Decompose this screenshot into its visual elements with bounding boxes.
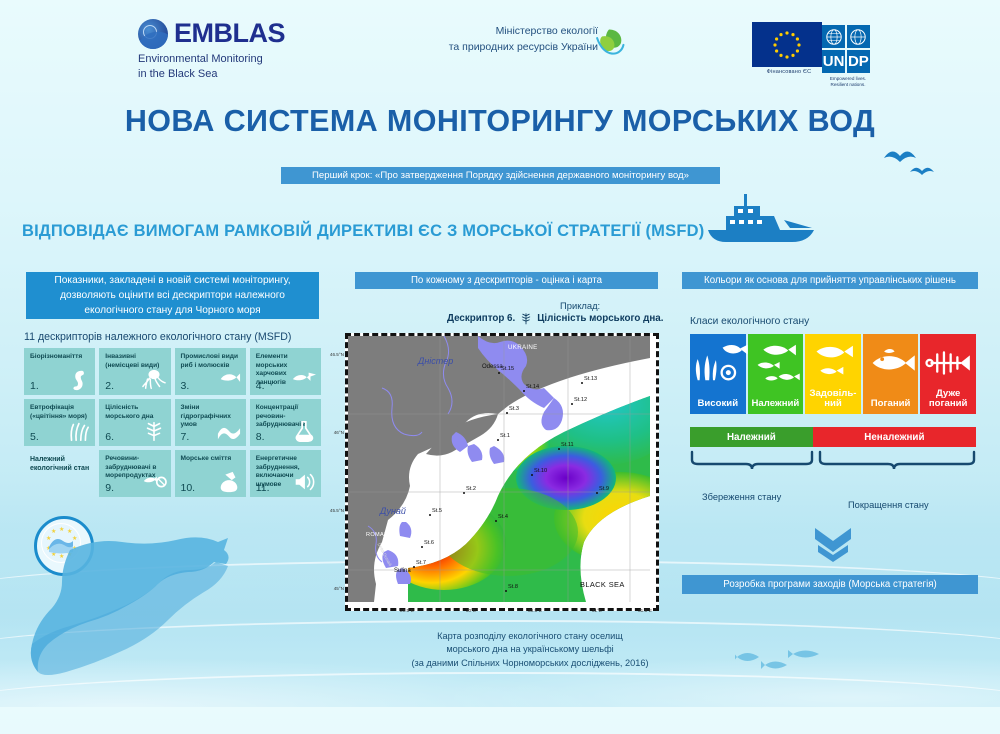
emblas-shell-wave-logo-icon — [138, 19, 168, 49]
map-frame: Дністер Дунай UKRAINE ROMANIA BLACK SEA … — [345, 333, 659, 611]
seagulls-icon — [880, 140, 940, 180]
descriptor-grid: Біорізноманіття1.Інвазивні (немісцеві ви… — [24, 348, 321, 497]
map-caption-line1: Карта розподілу екологічного стану осели… — [380, 630, 680, 643]
map-station-11: St.11 — [561, 442, 574, 448]
map-station-12: St.12 — [574, 397, 587, 403]
brace-left — [692, 452, 812, 469]
eco-class-label: Задовіль-ний — [805, 389, 861, 410]
eu-logo: Фінансовано ЄС — [752, 22, 826, 75]
descriptor-card-6: Цілісність морського дна6. — [99, 399, 170, 446]
eco-class-label: Дуже поганий — [920, 389, 976, 410]
wave-icon — [216, 419, 242, 443]
descriptor-card-4: Елементи морських харчових ланцюгів4. — [250, 348, 321, 395]
map-station-10: St.10 — [534, 468, 547, 474]
seabed-coral-icon — [141, 419, 167, 443]
descriptor-number: 3. — [181, 380, 190, 392]
program-banner: Розробка програми заходів (Морська страт… — [682, 575, 978, 594]
green-leaf-icon — [592, 26, 626, 62]
map-caption-line3: (за даними Спільних Чорноморських дослід… — [380, 657, 680, 670]
eco-class-3: Задовіль-ний — [805, 334, 861, 414]
descriptor-number: 1. — [30, 380, 39, 392]
map-label-dunai: Дунай — [380, 506, 406, 516]
classes-caption: Класи екологічного стану — [690, 316, 809, 327]
brace-label-improve: Покращення стану — [848, 500, 929, 510]
speaker-noise-icon — [291, 470, 317, 494]
food-chain-fish-icon — [291, 368, 317, 392]
map-caption: Карта розподілу екологічного стану осели… — [380, 630, 680, 670]
emblas-wordmark: EMBLAS — [174, 18, 285, 49]
undp-letters-dp: DP — [847, 50, 870, 73]
eco-class-label: Належний — [751, 399, 799, 410]
header: EMBLAS Environmental Monitoring in the B… — [0, 0, 1000, 98]
eu-funding-caption: Фінансовано ЄС — [752, 69, 826, 75]
map-lat-tick-1: 46.5°N — [322, 352, 344, 357]
descriptor6-title: Цілісність морського дна. — [537, 313, 663, 324]
eco-class-label: Поганий — [871, 399, 911, 410]
descriptor-number: 8. — [256, 431, 265, 443]
descriptor-card-1: Біорізноманіття1. — [24, 348, 95, 395]
map-caption-line2: морського дна на українському шельфі — [380, 643, 680, 656]
descriptor-card-11: Енергетичне забруднення, включаючи шумов… — [250, 450, 321, 497]
eco-class-1: Високий — [690, 334, 746, 414]
descriptor-number: 4. — [256, 380, 265, 392]
map-label-ukraine: UKRAINE — [508, 344, 538, 351]
status-label: Належний — [727, 432, 776, 443]
one-fish-icon — [863, 340, 924, 386]
map-label-black-sea: BLACK SEA — [580, 580, 625, 589]
brace-right — [820, 452, 974, 469]
trash-bag-icon — [216, 470, 242, 494]
undp-letters-un: UN — [822, 50, 845, 73]
research-vessel-icon — [700, 190, 825, 250]
map-lon-tick-5: 31.5°E — [632, 608, 658, 613]
page-title: НОВА СИСТЕМА МОНІТОРИНГУ МОРСЬКИХ ВОД — [0, 104, 1000, 139]
undp-globe-icon-mirror — [847, 25, 870, 48]
map-label-dnister: Дністер — [418, 356, 453, 366]
two-fish-icon — [805, 340, 866, 386]
descriptor6-heading: Дескриптор 6. Цілісність морського дна. — [447, 311, 663, 326]
seabed-coral-icon — [519, 311, 533, 326]
flask-icon — [291, 419, 317, 443]
map-lat-tick-2: 46°N — [322, 430, 344, 435]
map-town-odessa: Odessa — [482, 364, 503, 370]
map-station-14: St.14 — [526, 384, 539, 390]
descriptor-label: Належний екологічний стан — [30, 455, 90, 473]
fish-school-icon — [735, 645, 830, 675]
map-lon-tick-3: 30.5°E — [522, 608, 548, 613]
descriptor-number: 10. — [181, 482, 196, 494]
map-lat-tick-4: 45°N — [322, 586, 344, 591]
descriptor-card-5: Евтрофікація («цвітіння» моря)5. — [24, 399, 95, 446]
descriptor-number: 7. — [181, 431, 190, 443]
descriptor-number: 5. — [30, 431, 39, 443]
map-lon-tick-4: 31°E — [584, 608, 610, 613]
squid-icon — [141, 368, 167, 392]
descriptor6-prefix: Дескриптор 6. — [447, 313, 515, 324]
indicators-banner: Показники, закладені в новій системі мон… — [26, 272, 319, 319]
three-fish-icon — [748, 340, 809, 386]
eco-class-2: Належний — [748, 334, 804, 414]
map-station-5: St.5 — [432, 508, 442, 514]
eu-flag-icon — [752, 22, 822, 67]
map-station-7: St.7 — [416, 560, 426, 566]
seahorse-icon — [65, 368, 91, 392]
descriptor-label: Біорізноманіття — [30, 353, 90, 362]
descriptor-map-banner: По кожному з дескрипторів - оцінка і кар… — [355, 272, 658, 289]
fish-skeleton-icon — [920, 340, 981, 386]
descriptor-number: 2. — [105, 380, 114, 392]
undp-globe-icon — [822, 25, 845, 48]
descriptor-number: 11. — [256, 482, 270, 494]
map-label-romania: ROMANIA — [366, 532, 394, 538]
undp-logo: UN DP Empowered lives. Resilient nations… — [822, 25, 874, 88]
descriptor-label: Морське сміття — [181, 455, 241, 464]
map-station-13: St.13 — [584, 376, 597, 382]
map-station-4: St.4 — [498, 514, 508, 520]
msfd-compliance-heading: ВІДПОВІДАЄ ВИМОГАМ РАМКОВІЙ ДИРЕКТИВІ ЄС… — [22, 222, 704, 241]
map-station-3: St.3 — [509, 406, 519, 412]
descriptor-card-10: Морське сміття10. — [175, 450, 246, 497]
undp-caption-line2: Resilient nations. — [822, 82, 874, 88]
status-good: Належний — [690, 427, 813, 447]
eco-class-5: Дуже поганий — [920, 334, 976, 414]
colors-banner: Кольори як основа для прийняття управлін… — [682, 272, 978, 289]
brace-row — [690, 450, 976, 476]
descriptor-card-3: Промислові види риб і молюсків3. — [175, 348, 246, 395]
emblas-logo: EMBLAS Environmental Monitoring in the B… — [138, 18, 338, 82]
emblas-subtitle-line1: Environmental Monitoring — [138, 52, 338, 67]
descriptor-card-ges-label: Належний екологічний стан — [24, 450, 95, 497]
black-sea-map-silhouette — [18, 520, 248, 695]
map-lon-tick-2: 30°E — [458, 608, 484, 613]
map-canvas — [348, 336, 650, 602]
ministry-logo: Міністерство екології та природних ресур… — [418, 24, 598, 56]
ministry-name-line2: та природних ресурсів України — [418, 40, 598, 56]
map-station-1: St.1 — [500, 433, 510, 439]
descriptor-number: 9. — [105, 482, 114, 494]
eco-class-4: Поганий — [863, 334, 919, 414]
status-not-good: Неналежний — [813, 427, 976, 447]
first-step-banner: Перший крок: «Про затвердження Порядку з… — [281, 167, 720, 184]
map-lon-tick-1: 29.5°E — [394, 608, 420, 613]
descriptor-card-2: Інвазивні (немісцеві види)2. — [99, 348, 170, 395]
descriptor-card-9: Речовини-забруднювачі в морепродуктах9. — [99, 450, 170, 497]
ministry-name-line1: Міністерство екології — [418, 24, 598, 40]
coral-and-fish-icon — [690, 340, 751, 386]
map-lat-tick-3: 45.5°N — [322, 508, 344, 513]
emblas-subtitle-line2: in the Black Sea — [138, 67, 338, 82]
brace-label-preserve: Збереження стану — [702, 492, 781, 502]
map-station-2: St.2 — [466, 486, 476, 492]
status-legend: НалежнийНеналежний — [690, 427, 976, 447]
map-station-15: St.15 — [501, 366, 514, 372]
descriptor-number: 6. — [105, 431, 114, 443]
seafood-icon — [141, 470, 167, 494]
eco-class-legend: ВисокийНалежнийЗадовіль-нийПоганийДуже п… — [690, 334, 976, 414]
descriptors-caption: 11 дескрипторів належного екологічного с… — [24, 331, 291, 343]
map-station-9: St.9 — [599, 486, 609, 492]
eco-class-label: Високий — [697, 399, 738, 410]
double-chevron-down-icon — [812, 525, 854, 565]
descriptor-card-8: Концентрації речовин-забруднювачів8. — [250, 399, 321, 446]
map-station-8: St.8 — [508, 584, 518, 590]
fish-icon — [216, 368, 242, 392]
algae-icon — [65, 419, 91, 443]
example-label: Приклад: — [560, 300, 600, 311]
descriptor-card-7: Зміни гідрографічних умов7. — [175, 399, 246, 446]
status-label: Неналежний — [864, 432, 924, 443]
seabed-status-map: Дністер Дунай UKRAINE ROMANIA BLACK SEA … — [326, 330, 661, 615]
map-station-6: St.6 — [424, 540, 434, 546]
map-town-sulina: Sulina — [394, 568, 411, 574]
